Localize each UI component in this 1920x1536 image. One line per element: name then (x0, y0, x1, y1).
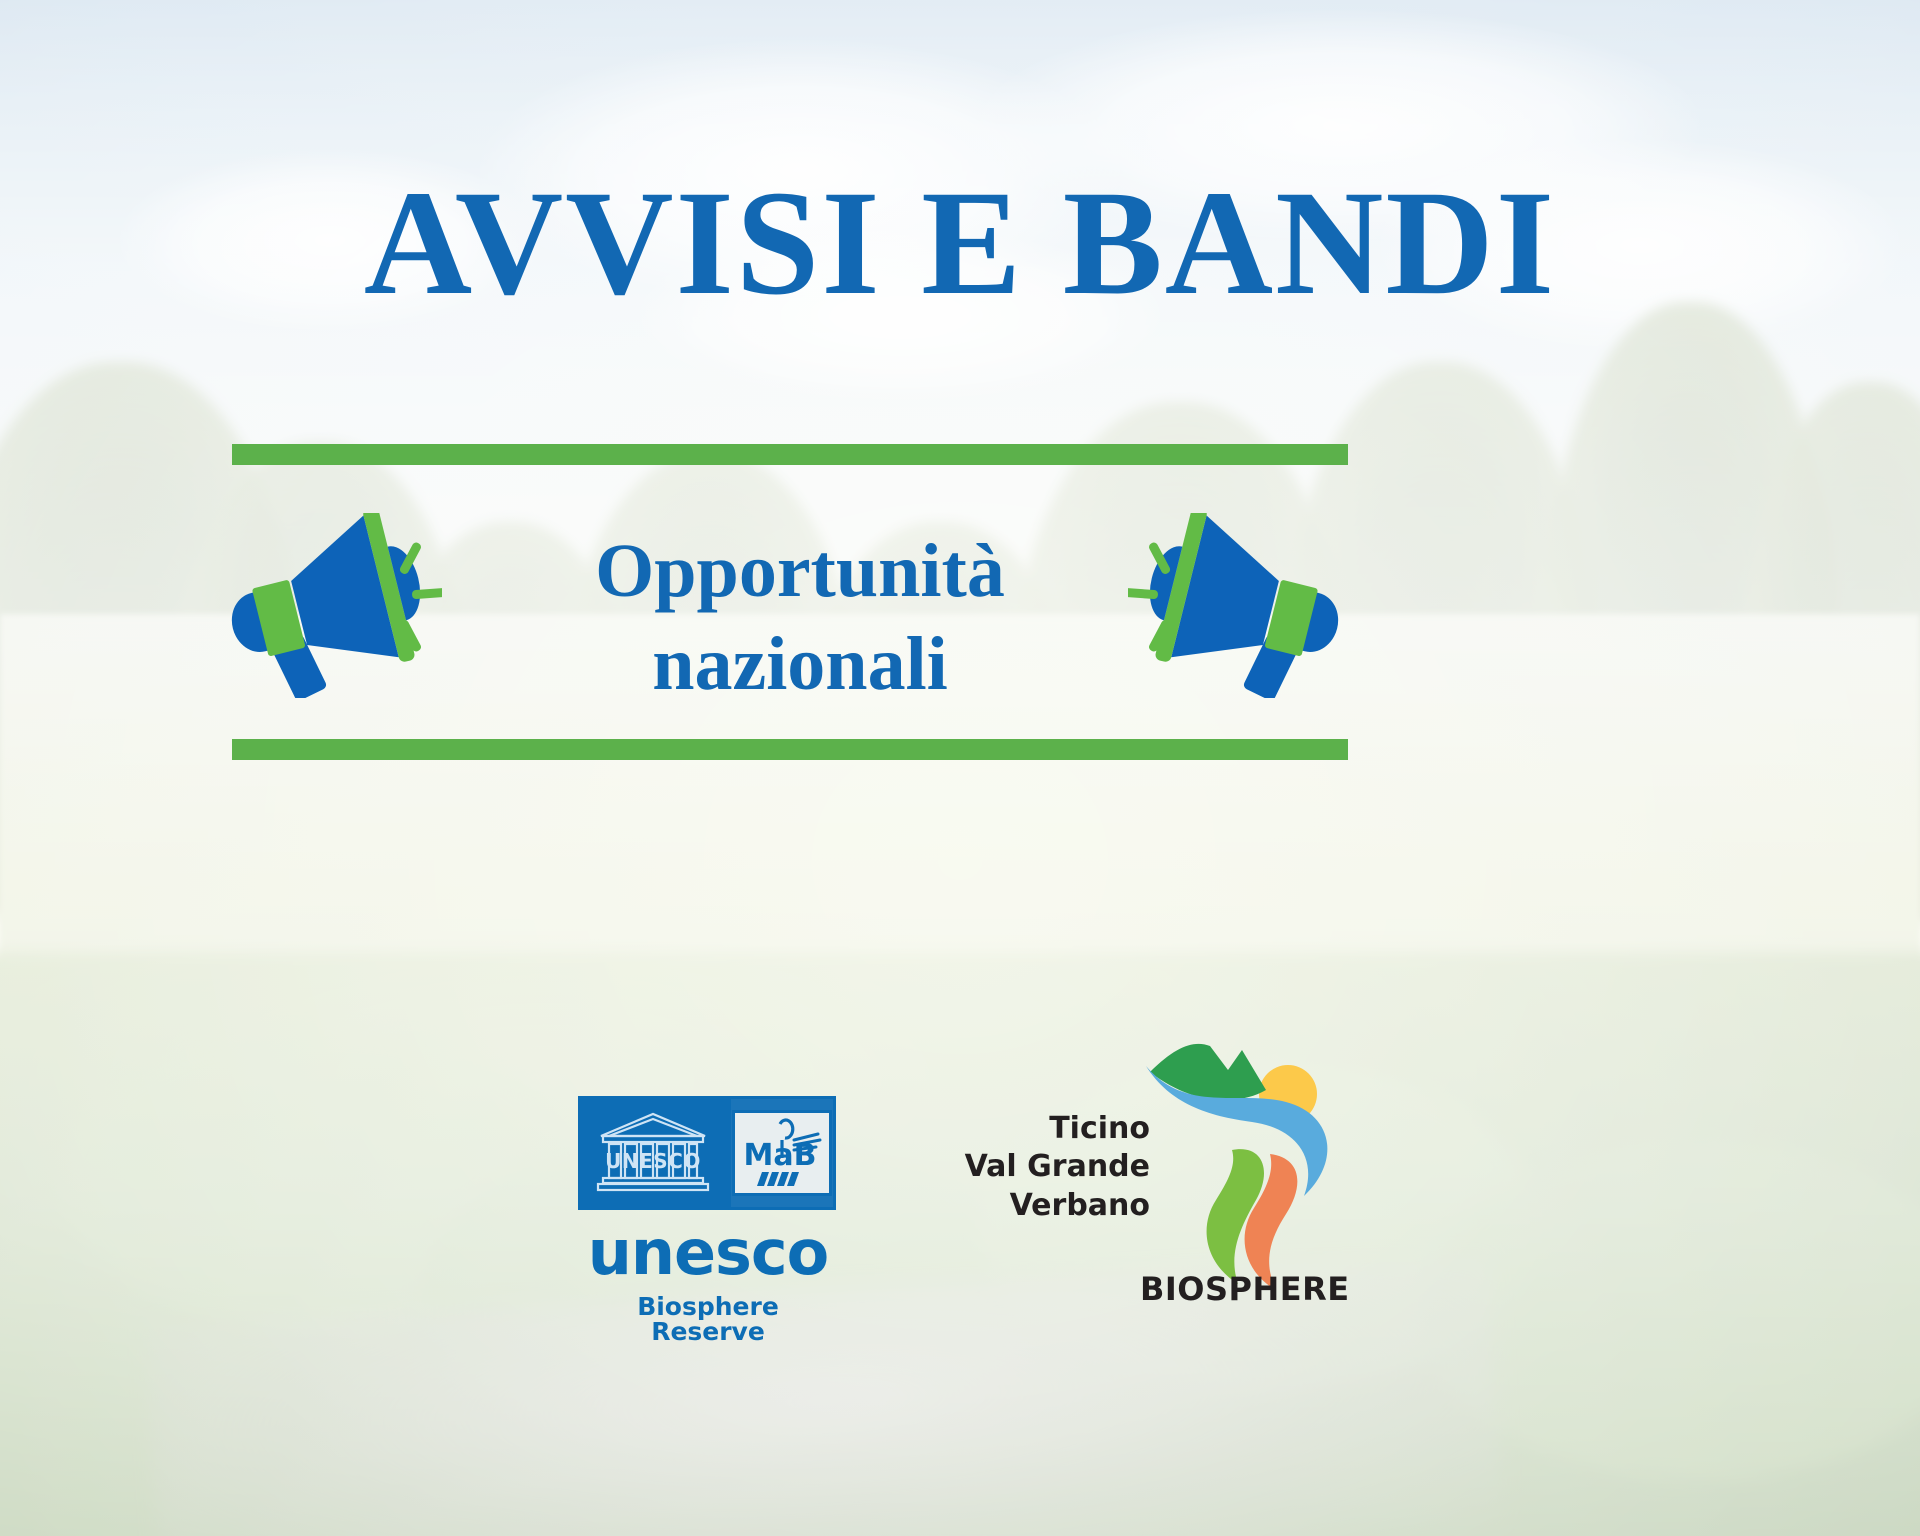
tvgv-symbol (1136, 1032, 1346, 1300)
subtitle-line-2: nazionali (520, 618, 1080, 711)
ticino-val-grande-verbano-logo: Ticino Val Grande Verbano BIOSPHE (940, 1032, 1340, 1322)
megaphone-icon-right (1128, 513, 1358, 698)
tvgv-biosphere-label: BIOSPHERE (1140, 1270, 1350, 1308)
subtitle-line-1: Opportunità (520, 525, 1080, 618)
unesco-emblem-text: UNESCO (605, 1149, 701, 1173)
green-divider-bottom (232, 739, 1348, 760)
poster-canvas: AVVISI E BANDI (0, 0, 1920, 1536)
poster-content: AVVISI E BANDI (0, 0, 1920, 1536)
unesco-temple-icon: UNESCO (593, 1110, 713, 1196)
green-divider-top (232, 444, 1348, 465)
mountain-icon (1150, 1044, 1266, 1100)
unesco-temple-cell: UNESCO (578, 1096, 728, 1210)
tvgv-line-3: Verbano (940, 1187, 1150, 1225)
unesco-tagline: Biosphere Reserve (578, 1294, 838, 1344)
mab-text: MaB (744, 1138, 817, 1173)
tvgv-name-block: Ticino Val Grande Verbano (940, 1110, 1150, 1225)
subtitle: Opportunità nazionali (520, 525, 1080, 710)
tvgv-line-2: Val Grande (940, 1148, 1150, 1186)
megaphone-glyph (1128, 513, 1358, 698)
unesco-wordmark: unesco (578, 1222, 838, 1284)
unesco-emblem-box: UNESCO MaB (578, 1096, 836, 1210)
unesco-mab-cell: MaB (728, 1096, 836, 1210)
megaphone-icon-left (212, 513, 442, 698)
mab-icon: MaB (732, 1110, 832, 1196)
megaphone-glyph (212, 513, 442, 698)
logo-row: UNESCO MaB (0, 1096, 1920, 1316)
tvgv-line-1: Ticino (940, 1110, 1150, 1148)
unesco-logo: UNESCO MaB (578, 1096, 838, 1344)
page-title: AVVISI E BANDI (0, 168, 1920, 318)
